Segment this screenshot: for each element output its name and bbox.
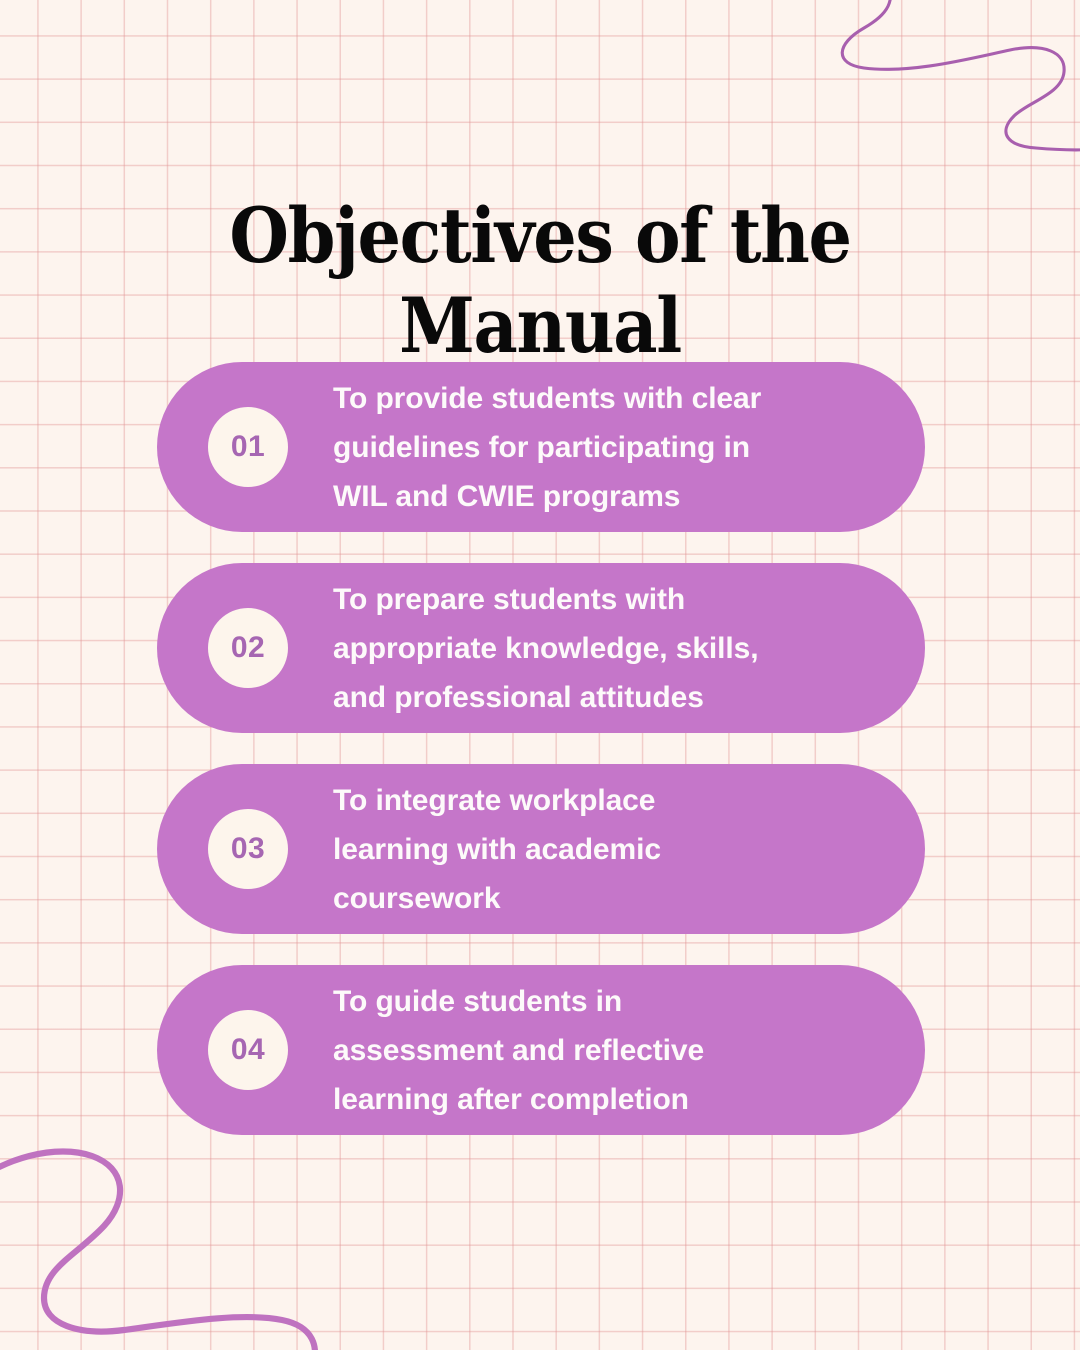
objective-text-line: WIL and CWIE programs	[333, 472, 761, 521]
objective-card[interactable]: 03 To integrate workplace learning with …	[157, 764, 925, 934]
objective-number-badge: 03	[208, 809, 288, 889]
objective-text-line: learning after completion	[333, 1075, 704, 1124]
objectives-list: 01 To provide students with clear guidel…	[157, 362, 925, 1135]
infographic-poster: Objectives of the Manual 01 To provide s…	[0, 0, 1080, 1350]
objective-text: To integrate workplace learning with aca…	[333, 776, 661, 923]
objective-text-line: To provide students with clear	[333, 374, 761, 423]
objective-text: To guide students in assessment and refl…	[333, 977, 704, 1124]
objective-text-line: guidelines for participating in	[333, 423, 761, 472]
objective-text-line: learning with academic	[333, 825, 661, 874]
objective-card[interactable]: 04 To guide students in assessment and r…	[157, 965, 925, 1135]
objective-number-badge: 04	[208, 1010, 288, 1090]
objective-text-line: To guide students in	[333, 977, 704, 1026]
page-title-line-2: Manual	[54, 281, 1026, 371]
objective-text: To provide students with clear guideline…	[333, 374, 761, 521]
page-title-line-1: Objectives of the	[54, 191, 1026, 281]
objective-number-badge: 02	[208, 608, 288, 688]
objective-text-line: To prepare students with	[333, 575, 758, 624]
page-title: Objectives of the Manual	[54, 191, 1026, 371]
objective-card[interactable]: 02 To prepare students with appropriate …	[157, 563, 925, 733]
objective-text: To prepare students with appropriate kno…	[333, 575, 758, 722]
objective-card[interactable]: 01 To provide students with clear guidel…	[157, 362, 925, 532]
objective-text-line: appropriate knowledge, skills,	[333, 624, 758, 673]
objective-text-line: assessment and reflective	[333, 1026, 704, 1075]
objective-number-badge: 01	[208, 407, 288, 487]
objective-text-line: and professional attitudes	[333, 673, 758, 722]
objective-text-line: To integrate workplace	[333, 776, 661, 825]
objective-text-line: coursework	[333, 874, 661, 923]
